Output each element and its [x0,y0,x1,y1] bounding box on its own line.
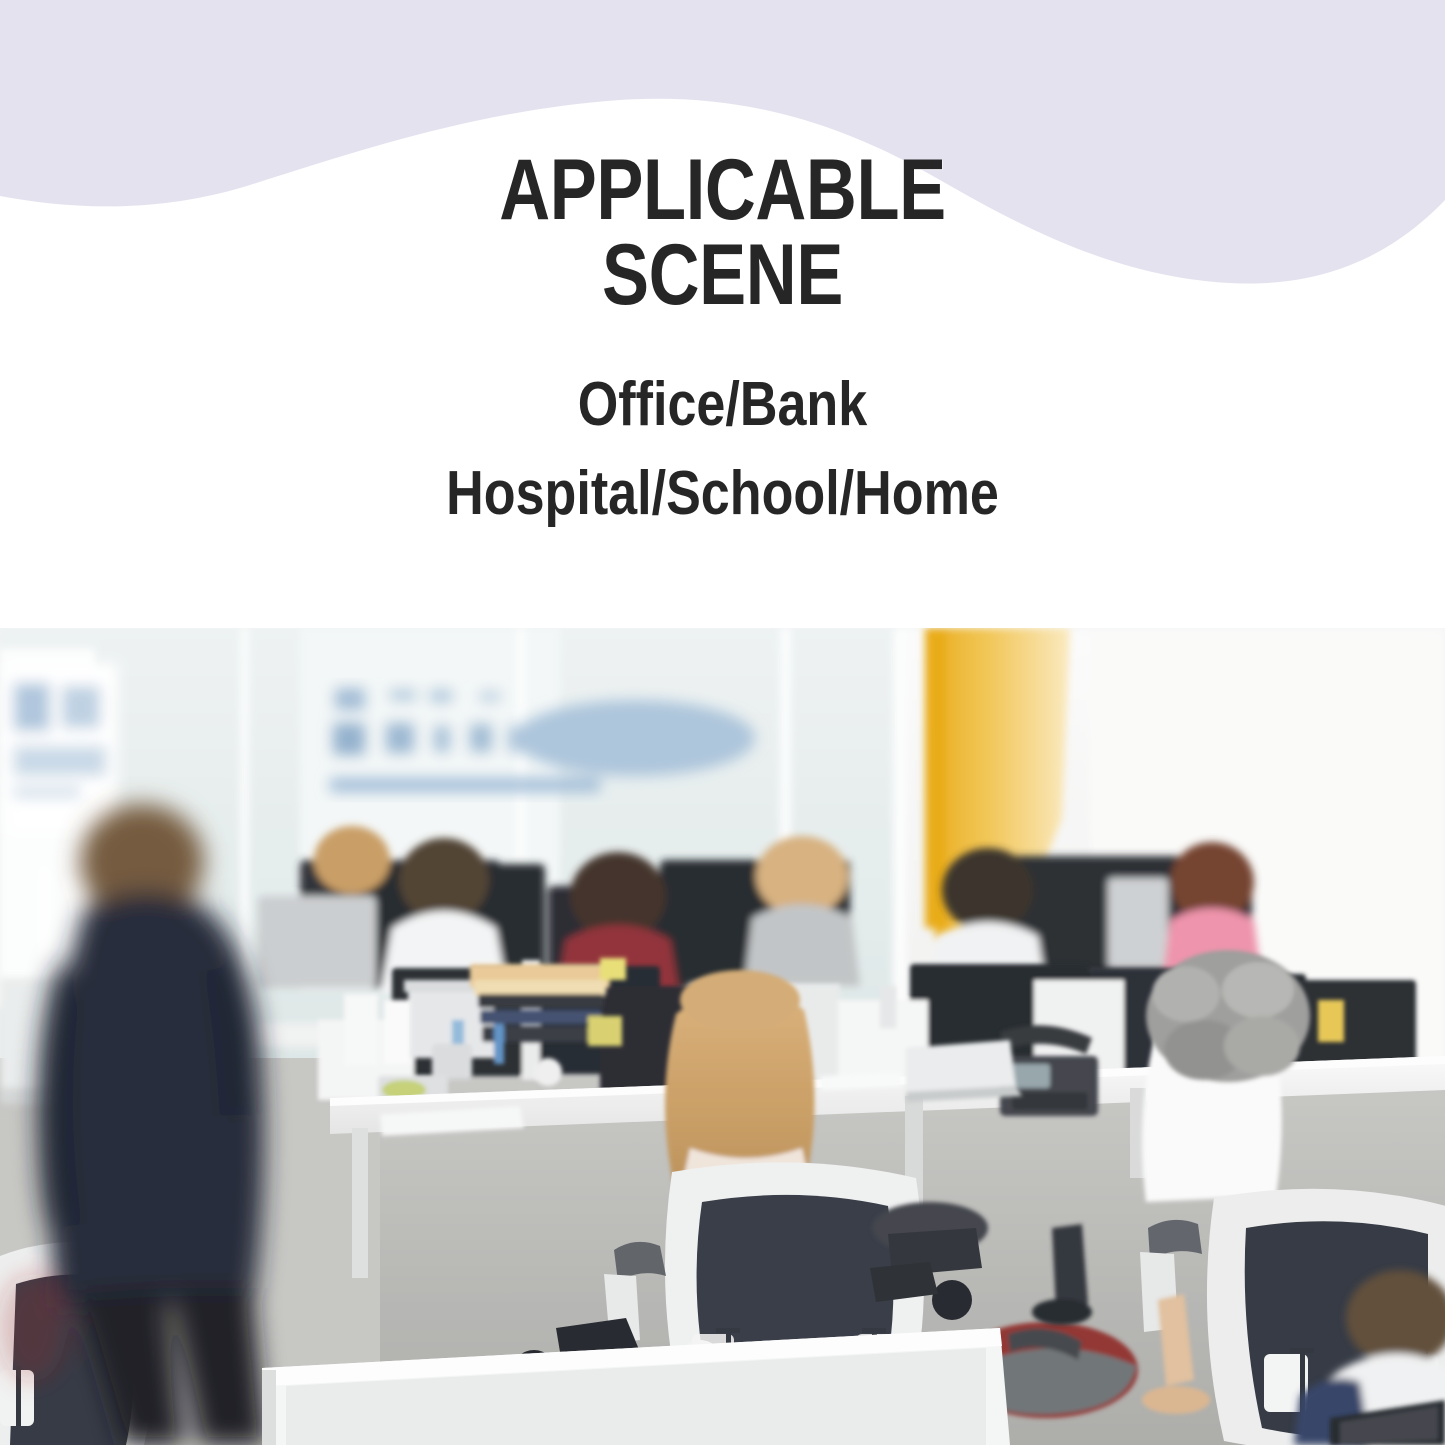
applicable-scene-page: APPLICABLE SCENE Office/Bank Hospital/Sc… [0,0,1445,1445]
banner-section: APPLICABLE SCENE Office/Bank Hospital/Sc… [0,0,1445,628]
subtitle-line-1: Office/Bank [116,372,1330,439]
office-photo-illustration [0,628,1445,1445]
page-title: APPLICABLE SCENE [130,148,1315,318]
page-title-line-2: SCENE [130,233,1315,318]
headline-block: APPLICABLE SCENE [0,148,1445,318]
subtitle-block: Office/Bank Hospital/School/Home [0,372,1445,528]
office-scene-photo: Blurred open-plan office with employees … [0,628,1445,1445]
subtitle-line-2: Hospital/School/Home [116,461,1330,528]
page-title-line-1: APPLICABLE [499,142,945,238]
